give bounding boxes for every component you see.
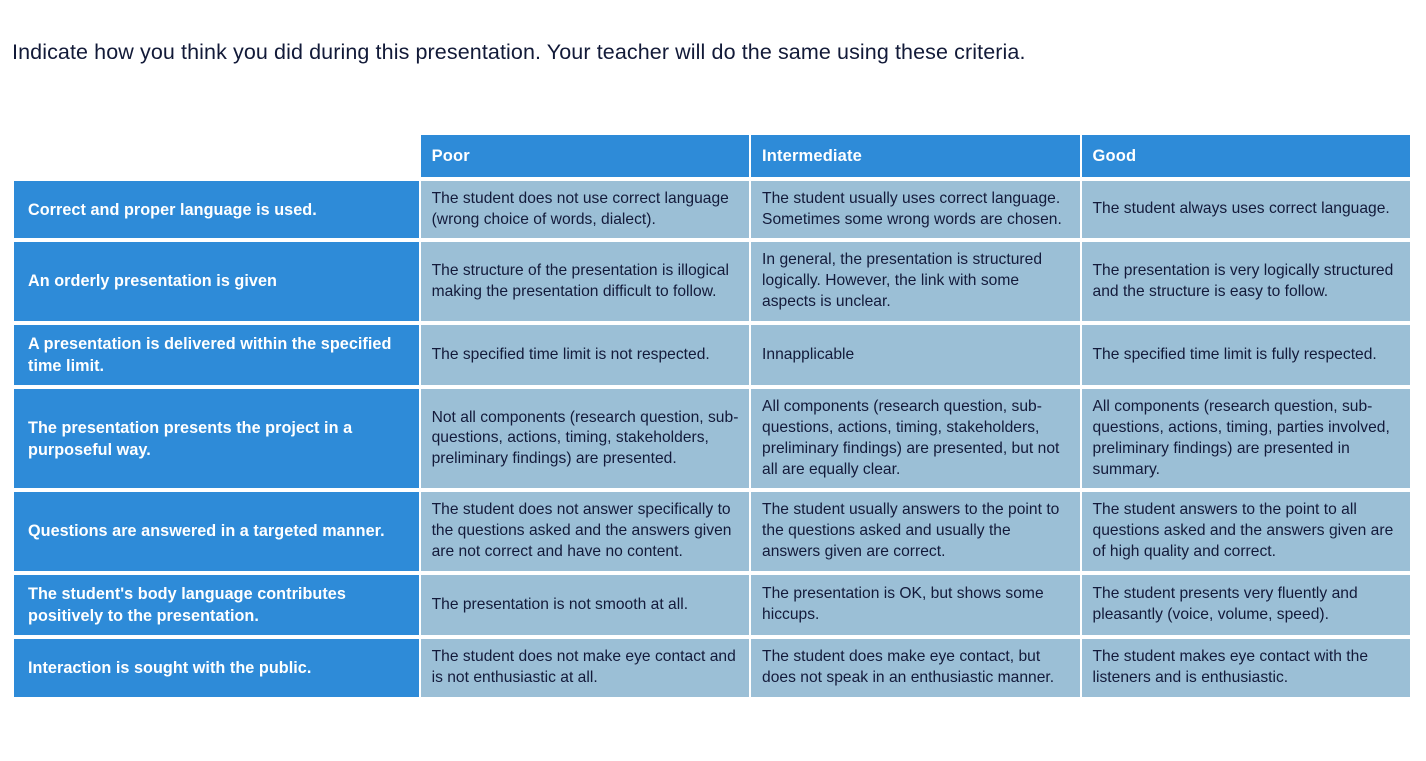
cell-intermediate: The presentation is OK, but shows some h… [751, 575, 1079, 636]
cell-good: The student presents very fluently and p… [1082, 575, 1410, 636]
table-row: An orderly presentation is given The str… [14, 242, 1410, 320]
table-row: A presentation is delivered within the s… [14, 325, 1410, 386]
cell-poor: The specified time limit is not respecte… [421, 325, 749, 386]
cell-good: The presentation is very logically struc… [1082, 242, 1410, 320]
table-row: The student's body language contributes … [14, 575, 1410, 636]
column-header-intermediate: Intermediate [751, 135, 1079, 177]
table-body: Correct and proper language is used. The… [14, 181, 1410, 697]
instruction-text: Indicate how you think you did during th… [12, 38, 1352, 66]
cell-good: The specified time limit is fully respec… [1082, 325, 1410, 386]
cell-good: All components (research question, sub-q… [1082, 389, 1410, 488]
table-row: Interaction is sought with the public. T… [14, 639, 1410, 696]
cell-good: The student always uses correct language… [1082, 181, 1410, 238]
cell-poor: The student does not use correct languag… [421, 181, 749, 238]
column-header-poor: Poor [421, 135, 749, 177]
presentation-rubric-table: Poor Intermediate Good Correct and prope… [12, 131, 1412, 701]
table-header: Poor Intermediate Good [14, 135, 1410, 177]
table-row: The presentation presents the project in… [14, 389, 1410, 488]
criterion-label: The presentation presents the project in… [14, 389, 419, 488]
cell-poor: The presentation is not smooth at all. [421, 575, 749, 636]
criterion-label: An orderly presentation is given [14, 242, 419, 320]
cell-poor: The student does not answer specifically… [421, 492, 749, 570]
table-row: Questions are answered in a targeted man… [14, 492, 1410, 570]
table-row: Correct and proper language is used. The… [14, 181, 1410, 238]
cell-good: The student answers to the point to all … [1082, 492, 1410, 570]
cell-intermediate: The student does make eye contact, but d… [751, 639, 1079, 696]
cell-intermediate: The student usually answers to the point… [751, 492, 1079, 570]
header-row: Poor Intermediate Good [14, 135, 1410, 177]
cell-intermediate: In general, the presentation is structur… [751, 242, 1079, 320]
cell-good: The student makes eye contact with the l… [1082, 639, 1410, 696]
cell-poor: Not all components (research question, s… [421, 389, 749, 488]
rubric-page: Indicate how you think you did during th… [0, 0, 1426, 761]
criterion-label: A presentation is delivered within the s… [14, 325, 419, 386]
criterion-label: The student's body language contributes … [14, 575, 419, 636]
criterion-label: Questions are answered in a targeted man… [14, 492, 419, 570]
cell-poor: The structure of the presentation is ill… [421, 242, 749, 320]
criterion-label: Correct and proper language is used. [14, 181, 419, 238]
cell-intermediate: The student usually uses correct languag… [751, 181, 1079, 238]
cell-intermediate: All components (research question, sub-q… [751, 389, 1079, 488]
column-header-good: Good [1082, 135, 1410, 177]
criterion-label: Interaction is sought with the public. [14, 639, 419, 696]
cell-poor: The student does not make eye contact an… [421, 639, 749, 696]
cell-intermediate: Innapplicable [751, 325, 1079, 386]
corner-cell [14, 135, 419, 177]
